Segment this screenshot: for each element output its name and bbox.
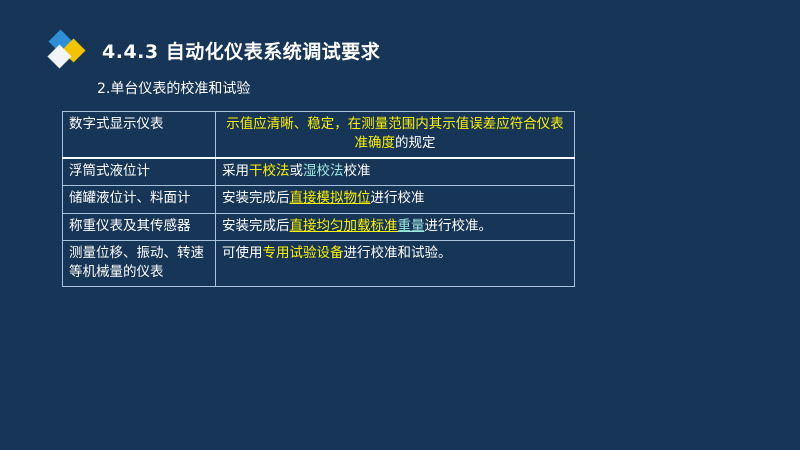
text-run: 进行校准。	[425, 218, 493, 234]
instrument-name-cell: 储罐液位计、料面计	[63, 186, 216, 213]
page-subtitle: 2.单台仪表的校准和试验	[97, 78, 250, 98]
requirement-cell: 安装完成后直接均匀加载标准重量进行校准。	[216, 213, 575, 240]
text-run: 直接均匀加载标准	[290, 218, 398, 234]
table-row: 称重仪表及其传感器 安装完成后直接均匀加载标准重量进行校准。	[63, 213, 575, 240]
requirement-cell: 示值应清晰、稳定，在测量范围内其示值误差应符合仪表准确度的规定	[216, 112, 575, 159]
three-diamond-logo	[44, 28, 92, 72]
table-row: 数字式显示仪表 示值应清晰、稳定，在测量范围内其示值误差应符合仪表准确度的规定	[63, 112, 575, 159]
text-run: 湿校法	[303, 163, 344, 179]
instrument-name-cell: 称重仪表及其传感器	[63, 213, 216, 240]
table-row: 储罐液位计、料面计 安装完成后直接模拟物位进行校准	[63, 186, 575, 213]
spec-table-container: 数字式显示仪表 示值应清晰、稳定，在测量范围内其示值误差应符合仪表准确度的规定 …	[62, 111, 548, 287]
page-title: 4.4.3 自动化仪表系统调试要求	[102, 37, 380, 64]
requirement-cell: 采用干校法或湿校法校准	[216, 158, 575, 186]
text-run: 干校法	[249, 163, 290, 179]
slide-header: 4.4.3 自动化仪表系统调试要求	[44, 28, 380, 72]
requirement-cell: 可使用专用试验设备进行校准和试验。	[216, 240, 575, 286]
text-run: 安装完成后	[222, 190, 290, 206]
text-run: 示值应清晰、稳定，在测量范围内其	[226, 116, 442, 132]
text-run: 重量	[398, 218, 425, 234]
text-run: 校准	[344, 163, 371, 179]
table-row: 测量位移、振动、转速等机械量的仪表 可使用专用试验设备进行校准和试验。	[63, 240, 575, 286]
text-run: 的规定	[395, 135, 436, 151]
text-run: 安装完成后	[222, 218, 290, 234]
text-run: 可使用	[222, 245, 263, 261]
instrument-name-cell: 测量位移、振动、转速等机械量的仪表	[63, 240, 216, 286]
text-run: 进行校准和试验。	[344, 245, 452, 261]
table-body: 数字式显示仪表 示值应清晰、稳定，在测量范围内其示值误差应符合仪表准确度的规定 …	[63, 112, 575, 287]
requirement-cell: 安装完成后直接模拟物位进行校准	[216, 186, 575, 213]
text-run: 进行校准	[371, 190, 425, 206]
instrument-calibration-table: 数字式显示仪表 示值应清晰、稳定，在测量范围内其示值误差应符合仪表准确度的规定 …	[62, 111, 575, 287]
instrument-name-cell: 浮筒式液位计	[63, 158, 216, 186]
text-run: 专用试验设备	[263, 245, 344, 261]
slide-canvas: 4.4.3 自动化仪表系统调试要求 2.单台仪表的校准和试验 数字式显示仪表 示…	[0, 0, 800, 450]
instrument-name-cell: 数字式显示仪表	[63, 112, 216, 159]
text-run: 直接模拟物位	[290, 190, 371, 206]
text-run: 采用	[222, 163, 249, 179]
table-row: 浮筒式液位计 采用干校法或湿校法校准	[63, 158, 575, 186]
text-run: 或	[290, 163, 304, 179]
